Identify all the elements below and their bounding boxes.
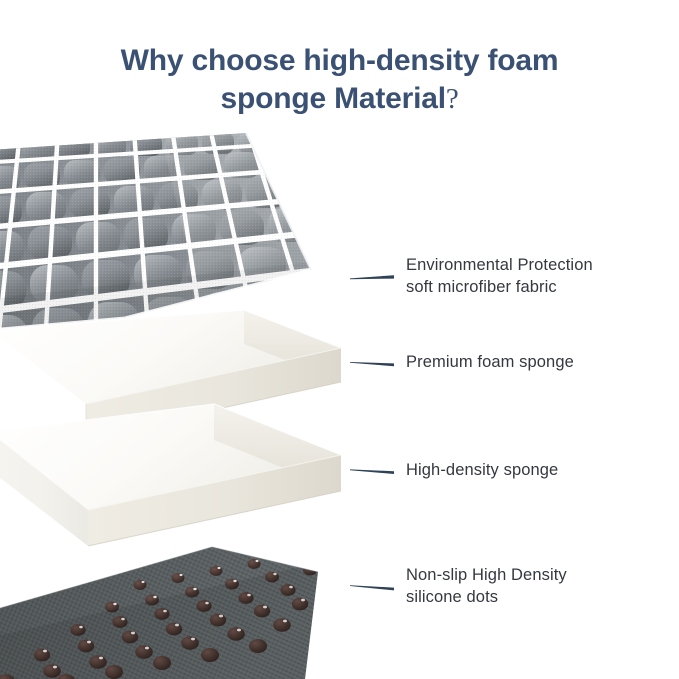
leader-line-icon (350, 466, 396, 476)
callout-microfiber: Environmental Protection soft microfiber… (350, 255, 593, 299)
callout-high-density: High-density sponge (350, 460, 558, 482)
layer-high-density-foam (0, 404, 341, 546)
callout-high-density-label: High-density sponge (406, 460, 558, 482)
product-material-infographic: Why choose high-density foam sponge Mate… (0, 0, 679, 679)
callout-premium-foam: Premium foam sponge (350, 352, 574, 374)
leader-line-icon (350, 582, 396, 592)
callout-premium-foam-label: Premium foam sponge (406, 352, 574, 374)
callout-nonslip: Non-slip High Density silicone dots (350, 565, 567, 609)
layer-nonslip-backing (0, 530, 380, 679)
leader-line-icon (350, 272, 396, 282)
callout-nonslip-label: Non-slip High Density silicone dots (406, 565, 567, 609)
leader-line-icon (350, 358, 396, 368)
exploded-layer-diagram (0, 0, 679, 679)
callout-microfiber-label: Environmental Protection soft microfiber… (406, 255, 593, 299)
